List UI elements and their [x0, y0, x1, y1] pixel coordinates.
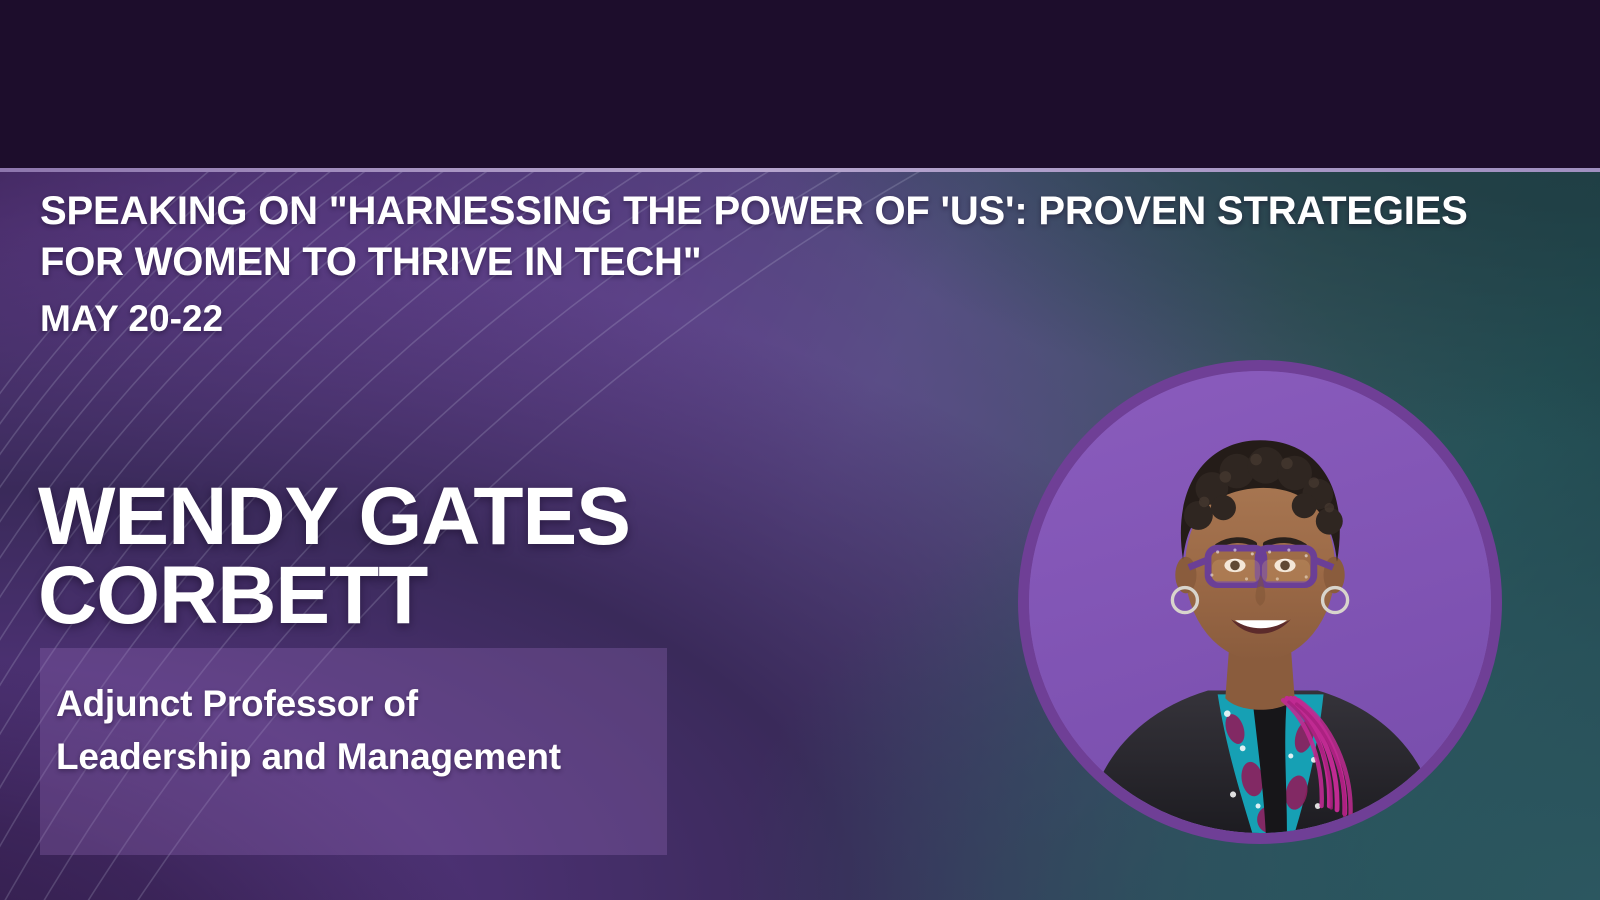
- header-divider: [0, 168, 1600, 172]
- session-headline: SPEAKING ON "HARNESSING THE POWER OF 'US…: [40, 186, 1470, 288]
- speaker-role: Adjunct Professor of Leadership and Mana…: [56, 678, 616, 783]
- speaker-announcement-poster: Women in Tech GLOBAL CONFERENCE 2025 CHI…: [0, 0, 1600, 900]
- event-dates: MAY 20-22: [40, 298, 223, 340]
- speaker-portrait: [1018, 360, 1502, 844]
- speaker-name: WENDY GATES CORBETT: [38, 478, 758, 635]
- speaker-role-box: Adjunct Professor of Leadership and Mana…: [40, 648, 667, 855]
- conference-header-bar: [0, 0, 1600, 168]
